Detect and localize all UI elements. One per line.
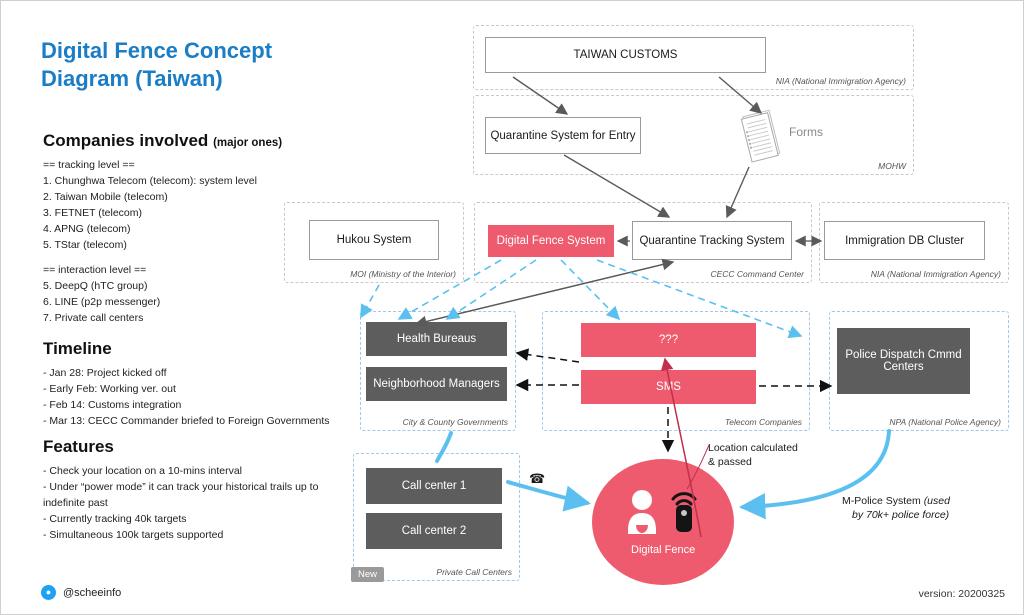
timeline-line: - Mar 13: CECC Commander briefed to Fore… (43, 414, 353, 430)
diagram-canvas: Digital Fence Concept Diagram (Taiwan) C… (0, 0, 1024, 615)
page-title-line-1: Digital Fence Concept (41, 37, 341, 65)
timeline-section: Timeline - Jan 28: Project kicked off - … (43, 339, 353, 430)
group-label: City & County Governments (403, 417, 508, 427)
node-hukou-system[interactable]: Hukou System (309, 220, 439, 260)
annotation-line: Location calculated (708, 441, 838, 455)
node-call-center-1[interactable]: Call center 1 (366, 468, 502, 504)
annotation-line: M-Police System (used (842, 494, 1017, 508)
person-icon (623, 488, 661, 534)
group-label: Telecom Companies (725, 417, 802, 427)
group-label: MOI (Ministry of the Interior) (350, 269, 456, 279)
timeline-line: - Feb 14: Customs integration (43, 398, 353, 414)
timeline-list: - Jan 28: Project kicked off - Early Feb… (43, 366, 353, 430)
timeline-heading: Timeline (43, 339, 353, 359)
group-label: NIA (National Immigration Agency) (776, 76, 906, 86)
group-label: NIA (National Immigration Agency) (871, 269, 1001, 279)
new-badge: New (351, 567, 384, 582)
phone-call-icon: ☎ (529, 471, 545, 487)
node-digital-fence-label: Digital Fence (631, 544, 695, 556)
node-forms-label: Forms (789, 125, 823, 139)
page-title-line-2: Diagram (Taiwan) (41, 65, 341, 93)
node-neighborhood-managers[interactable]: Neighborhood Managers (366, 367, 507, 401)
node-sms[interactable]: SMS (581, 370, 756, 404)
companies-line: 1. Chunghwa Telecom (telecom): system le… (43, 174, 353, 190)
companies-line: == tracking level == (43, 158, 353, 174)
page-title: Digital Fence Concept Diagram (Taiwan) (41, 37, 341, 93)
node-quarantine-tracking-system[interactable]: Quarantine Tracking System (632, 221, 792, 260)
node-police-dispatch-cmmd-centers[interactable]: Police Dispatch Cmmd Centers (837, 328, 970, 394)
group-label: Private Call Centers (436, 567, 512, 577)
annotation-location-calculated: Location calculated & passed (708, 441, 838, 469)
features-heading: Features (43, 437, 343, 457)
features-line: - Simultaneous 100k targets supported (43, 528, 343, 544)
twitter-handle[interactable]: ● @scheeinfo (41, 585, 121, 600)
node-call-center-2[interactable]: Call center 2 (366, 513, 502, 549)
node-quarantine-system-for-entry[interactable]: Quarantine System for Entry (485, 117, 641, 154)
node-immigration-db-cluster[interactable]: Immigration DB Cluster (824, 221, 985, 260)
companies-line: 6. LINE (p2p messenger) (43, 295, 353, 311)
node-health-bureaus[interactable]: Health Bureaus (366, 322, 507, 356)
features-line: - Under “power mode” it can track your h… (43, 480, 343, 512)
twitter-icon: ● (41, 585, 56, 600)
features-line: - Currently tracking 40k targets (43, 512, 343, 528)
features-list: - Check your location on a 10-mins inter… (43, 464, 343, 544)
features-section: Features - Check your location on a 10-m… (43, 437, 343, 544)
forms-document-icon (739, 109, 783, 163)
companies-heading: Companies involved (major ones) (43, 131, 353, 151)
companies-line: 7. Private call centers (43, 311, 353, 327)
companies-heading-sub: (major ones) (213, 137, 282, 149)
features-line: - Check your location on a 10-mins inter… (43, 464, 343, 480)
timeline-line: - Jan 28: Project kicked off (43, 366, 353, 382)
group-label: NPA (National Police Agency) (889, 417, 1001, 427)
annotation-mpolice-system: M-Police System (used by 70k+ police for… (842, 494, 1017, 522)
node-taiwan-customs[interactable]: TAIWAN CUSTOMS (485, 37, 766, 73)
group-label: CECC Command Center (710, 269, 804, 279)
node-unknown-telecom[interactable]: ??? (581, 323, 756, 357)
annotation-line: & passed (708, 455, 838, 469)
node-digital-fence-circle[interactable] (592, 459, 734, 585)
group-label: MOHW (878, 161, 906, 171)
annotation-line: by 70k+ police force) (842, 508, 1017, 522)
mobile-signal-icon (666, 485, 702, 533)
version-label: version: 20200325 (919, 588, 1005, 600)
twitter-handle-label: @scheeinfo (63, 587, 121, 599)
node-digital-fence-system[interactable]: Digital Fence System (488, 225, 614, 257)
timeline-line: - Early Feb: Working ver. out (43, 382, 353, 398)
